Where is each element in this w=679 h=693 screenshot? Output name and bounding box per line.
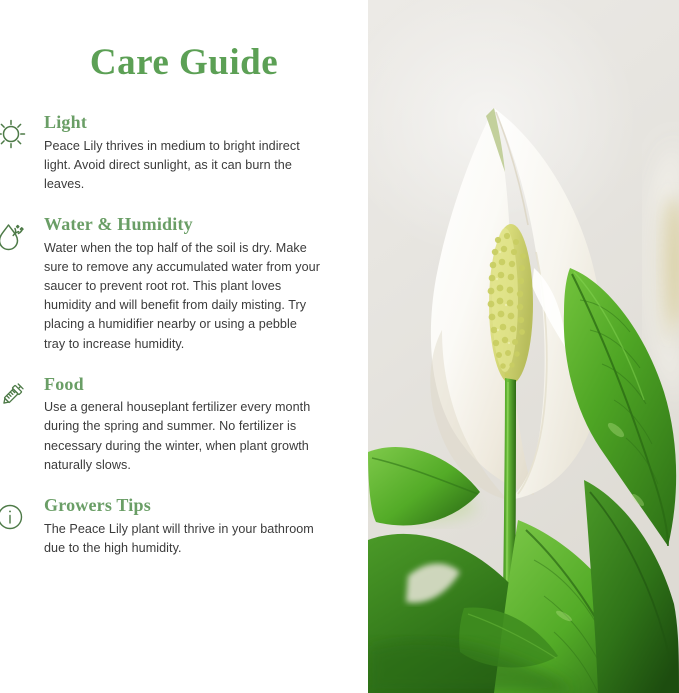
care-section-heading: Light <box>44 112 320 133</box>
care-section-text: Use a general houseplant fertilizer ever… <box>44 398 320 475</box>
care-section-water: Water & Humidity Water when the top half… <box>0 214 368 354</box>
sun-icon <box>0 114 31 154</box>
care-section-heading: Water & Humidity <box>44 214 320 235</box>
care-section-heading: Growers Tips <box>44 495 320 516</box>
care-section-body: Food Use a general houseplant fertilizer… <box>44 374 368 475</box>
care-section-body: Light Peace Lily thrives in medium to br… <box>44 112 368 194</box>
care-section-text: Water when the top half of the soil is d… <box>44 239 320 354</box>
care-section-body: Water & Humidity Water when the top half… <box>44 214 368 354</box>
care-section-food: Food Use a general houseplant fertilizer… <box>0 374 368 475</box>
info-circle-icon <box>0 497 31 537</box>
care-section-body: Growers Tips The Peace Lily plant will t… <box>44 495 368 558</box>
care-section-text: Peace Lily thrives in medium to bright i… <box>44 137 320 194</box>
care-guide-page: Care Guide <box>0 0 679 693</box>
care-section-light: Light Peace Lily thrives in medium to br… <box>0 112 368 194</box>
care-section-text: The Peace Lily plant will thrive in your… <box>44 520 320 558</box>
care-guide-text-panel: Care Guide <box>0 0 368 693</box>
syringe-icon <box>0 376 31 416</box>
water-drop-icon <box>0 216 31 256</box>
peace-lily-flower-photo <box>368 0 679 693</box>
care-section-heading: Food <box>44 374 320 395</box>
care-section-growers-tips: Growers Tips The Peace Lily plant will t… <box>0 495 368 558</box>
page-title: Care Guide <box>0 44 368 83</box>
care-sections-list: Light Peace Lily thrives in medium to br… <box>0 112 368 558</box>
